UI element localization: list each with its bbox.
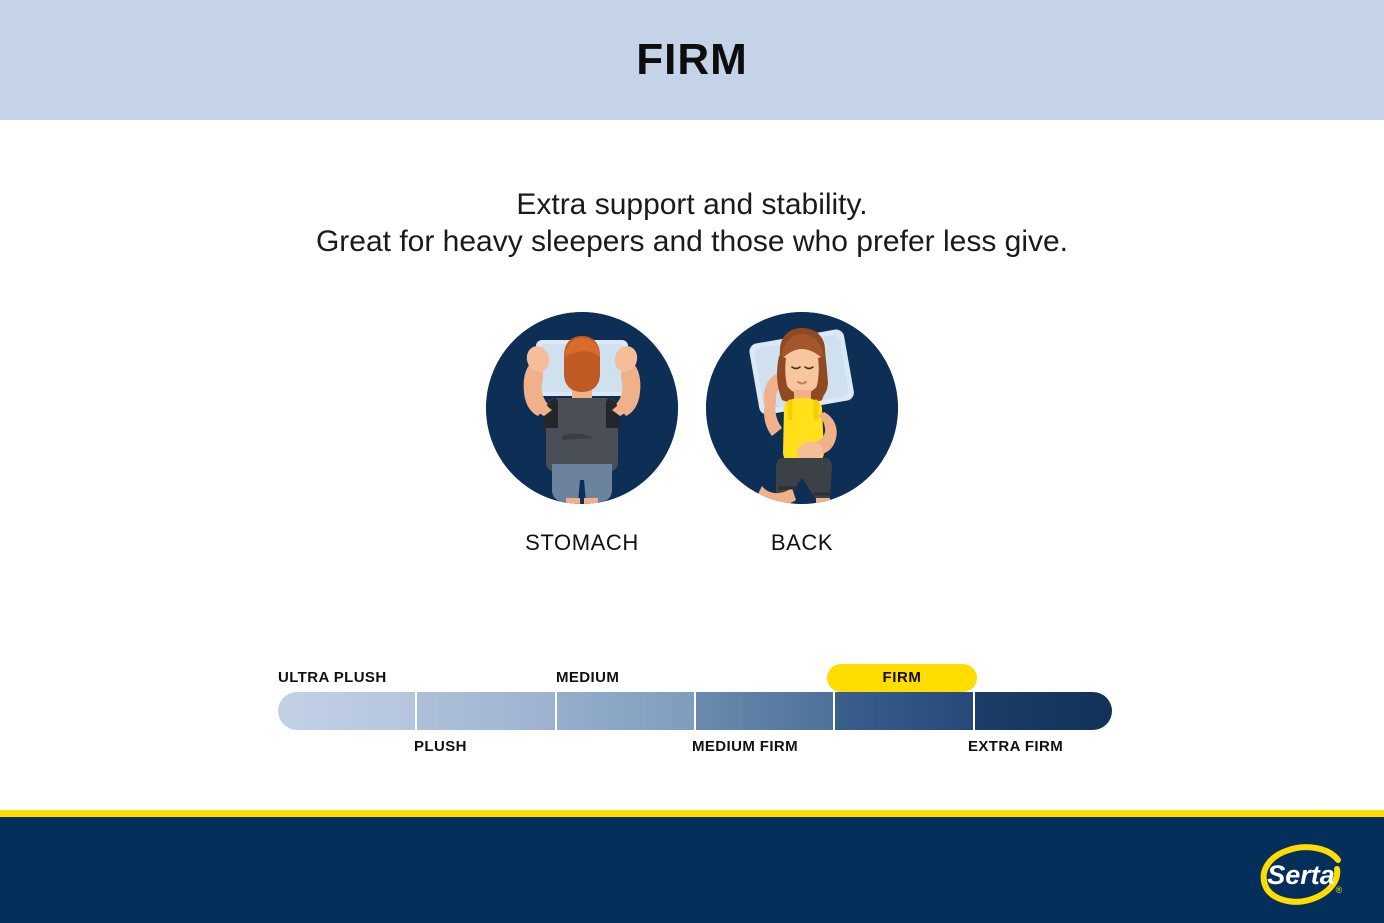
sleep-position-label: STOMACH (486, 530, 678, 556)
scale-label-extra-firm: EXTRA FIRM (968, 738, 1063, 755)
sleep-position-back: BACK (706, 312, 898, 556)
scale-label-plush: PLUSH (414, 738, 467, 755)
registered-mark: ® (1336, 885, 1343, 895)
firmness-scale-bar[interactable] (278, 692, 1112, 730)
scale-label-medium-firm: MEDIUM FIRM (692, 738, 798, 755)
firmness-scale-bottom-labels: PLUSH MEDIUM FIRM EXTRA FIRM (278, 730, 1112, 758)
serta-wordmark: Serta (1267, 860, 1335, 890)
sleep-position-stomach: STOMACH (486, 312, 678, 556)
scale-segment-firm[interactable] (835, 692, 974, 730)
scale-label-ultra-plush: ULTRA PLUSH (278, 669, 387, 686)
scale-segment-ultra-plush[interactable] (278, 692, 417, 730)
scale-segment-medium[interactable] (557, 692, 696, 730)
scale-segment-plush[interactable] (417, 692, 556, 730)
footer-band: Serta ® (0, 817, 1384, 923)
header-band: FIRM (0, 0, 1384, 120)
subtitle-line-1: Extra support and stability. (0, 186, 1384, 223)
page-title: FIRM (636, 35, 748, 85)
sleep-positions: STOMACH (486, 312, 898, 572)
scale-label-medium: MEDIUM (556, 669, 619, 686)
scale-segment-extra-firm[interactable] (975, 692, 1112, 730)
scale-segment-medium-firm[interactable] (696, 692, 835, 730)
scale-label-firm-selected[interactable]: FIRM (827, 664, 977, 692)
firmness-scale: ULTRA PLUSH MEDIUM FIRM PLUSH MEDIUM FIR… (278, 660, 1112, 770)
subtitle-line-2: Great for heavy sleepers and those who p… (0, 223, 1384, 260)
serta-logo: Serta ® (1257, 843, 1349, 905)
footer-accent-stripe (0, 810, 1384, 817)
stomach-sleeper-illustration (486, 312, 678, 504)
subtitle: Extra support and stability. Great for h… (0, 186, 1384, 260)
sleep-position-label: BACK (706, 530, 898, 556)
back-sleeper-illustration (706, 312, 898, 504)
firmness-scale-top-labels: ULTRA PLUSH MEDIUM FIRM (278, 660, 1112, 688)
